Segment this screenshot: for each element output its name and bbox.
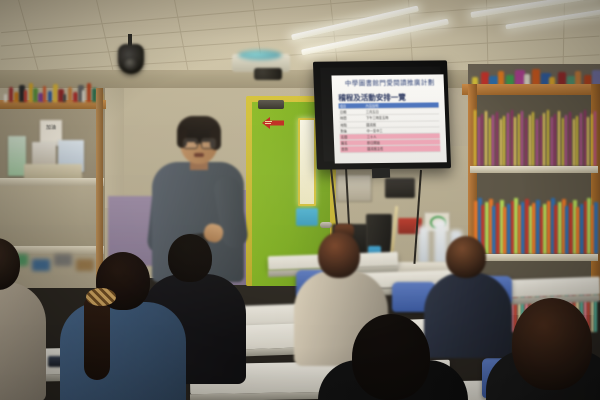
wall-equipment-box <box>385 178 415 198</box>
figurine <box>24 90 27 102</box>
presentation-slide: 中學圖書館門愛閱讀推廣計劃 稽程及活動安排一覽 項目內容說明日期三月五日時間下午… <box>331 74 446 163</box>
audience <box>0 210 600 400</box>
book-spine <box>511 110 513 166</box>
book-spine <box>573 119 575 166</box>
figurine <box>82 90 85 102</box>
attendee-black-top-head <box>168 234 212 282</box>
attendee-blue-top-ponytail-ponytail <box>84 298 110 380</box>
figurine <box>29 83 33 102</box>
figurine <box>68 87 72 102</box>
book-spine <box>540 116 542 166</box>
book-spine <box>507 113 509 166</box>
wall-mounted-tv[interactable]: 中學圖書館門愛閱讀推廣計劃 稽程及活動安排一覽 項目內容說明日期三月五日時間下午… <box>313 60 451 169</box>
book-spine <box>584 110 586 166</box>
attendee-navy-top-right-torso <box>424 272 512 358</box>
book-spine <box>558 111 560 166</box>
book-spine <box>503 116 505 166</box>
presenter-mouth <box>194 153 204 157</box>
book-spine <box>518 114 520 166</box>
book-spine <box>492 115 494 166</box>
book-spine <box>525 118 527 166</box>
exit-arrow-sign-icon <box>261 116 284 130</box>
attendee-far-right-head <box>512 298 592 390</box>
attendee-dark-foreground-head <box>352 314 430 400</box>
book-spine <box>536 119 538 166</box>
book-spine <box>529 115 531 166</box>
book-spine <box>543 113 545 166</box>
projector-lens-glow-icon <box>238 50 282 60</box>
book-spine <box>587 117 589 166</box>
book-spine <box>569 112 571 166</box>
slide-table-cell: 查詢 <box>340 146 366 152</box>
book-spine <box>562 118 564 166</box>
attendee-cream-sweater-left-torso <box>0 282 46 400</box>
door-vision-panel <box>298 118 316 206</box>
attendee-blue-top-ponytail-torso <box>60 302 186 400</box>
attendee-cream-sweater-left-head <box>0 238 20 290</box>
book-spine <box>565 115 567 166</box>
book-spine <box>500 119 502 166</box>
attendee-navy-top-right-head <box>446 236 486 278</box>
figurine-collection <box>2 76 102 102</box>
book-spine <box>591 114 593 166</box>
eyeglasses-lens-right-icon <box>201 138 216 149</box>
tv-wall-mount <box>372 168 390 179</box>
right-shelf-toy-row <box>470 64 600 86</box>
book-spine <box>576 116 578 166</box>
book-spine <box>594 111 596 166</box>
slide-table-row: 查詢圖書館主任 <box>340 145 440 152</box>
book-spine <box>554 114 556 166</box>
book-spine <box>485 111 487 166</box>
book-spine <box>478 117 480 166</box>
figurine <box>87 83 91 102</box>
camera-lens-icon <box>124 58 138 70</box>
leopard-print-scrunchie <box>86 288 116 306</box>
eyeglasses-lens-left-icon <box>183 138 198 149</box>
book-spine <box>532 112 534 166</box>
attendee-cream-knit-sweater-head <box>318 232 360 278</box>
left-bookshelf-middle-shelf <box>0 178 104 186</box>
figurine <box>4 94 7 102</box>
book-spine <box>547 110 549 166</box>
bookshelf-shelf-board <box>470 166 598 173</box>
book-spine <box>580 113 582 166</box>
ceiling-projector-icon <box>254 68 282 80</box>
book-spine <box>474 110 476 166</box>
figurine <box>63 94 66 102</box>
slide-table-cell: 圖書館主任 <box>366 145 440 152</box>
figurine <box>9 87 13 102</box>
wall-electrical-panel-icon <box>336 174 372 202</box>
figurine <box>73 92 78 102</box>
book-spine <box>551 117 553 166</box>
book-spine <box>481 114 483 166</box>
slide-table: 項目內容說明日期三月五日時間下午三時至五時地點圖書館對象中一至中三名額三十人報名… <box>339 102 441 153</box>
book-spine <box>514 117 516 166</box>
book-spine <box>489 118 491 166</box>
classroom-scene: 加油 中學圖書館門愛閱讀推廣計劃 稽程及活動安排一覽 項目內容說明日期三月五日時… <box>0 0 600 400</box>
figurine <box>43 86 46 102</box>
door-closer-icon <box>258 100 284 109</box>
tv-screen: 中學圖書館門愛閱讀推廣計劃 稽程及活動安排一覽 項目內容說明日期三月五日時間下午… <box>320 66 444 161</box>
figurine <box>48 91 52 102</box>
eyeglasses-bridge-icon <box>195 142 202 144</box>
book-spine <box>521 111 523 166</box>
book-spine <box>496 112 498 166</box>
slide-title: 中學圖書館門愛閱讀推廣計劃 <box>342 79 438 88</box>
